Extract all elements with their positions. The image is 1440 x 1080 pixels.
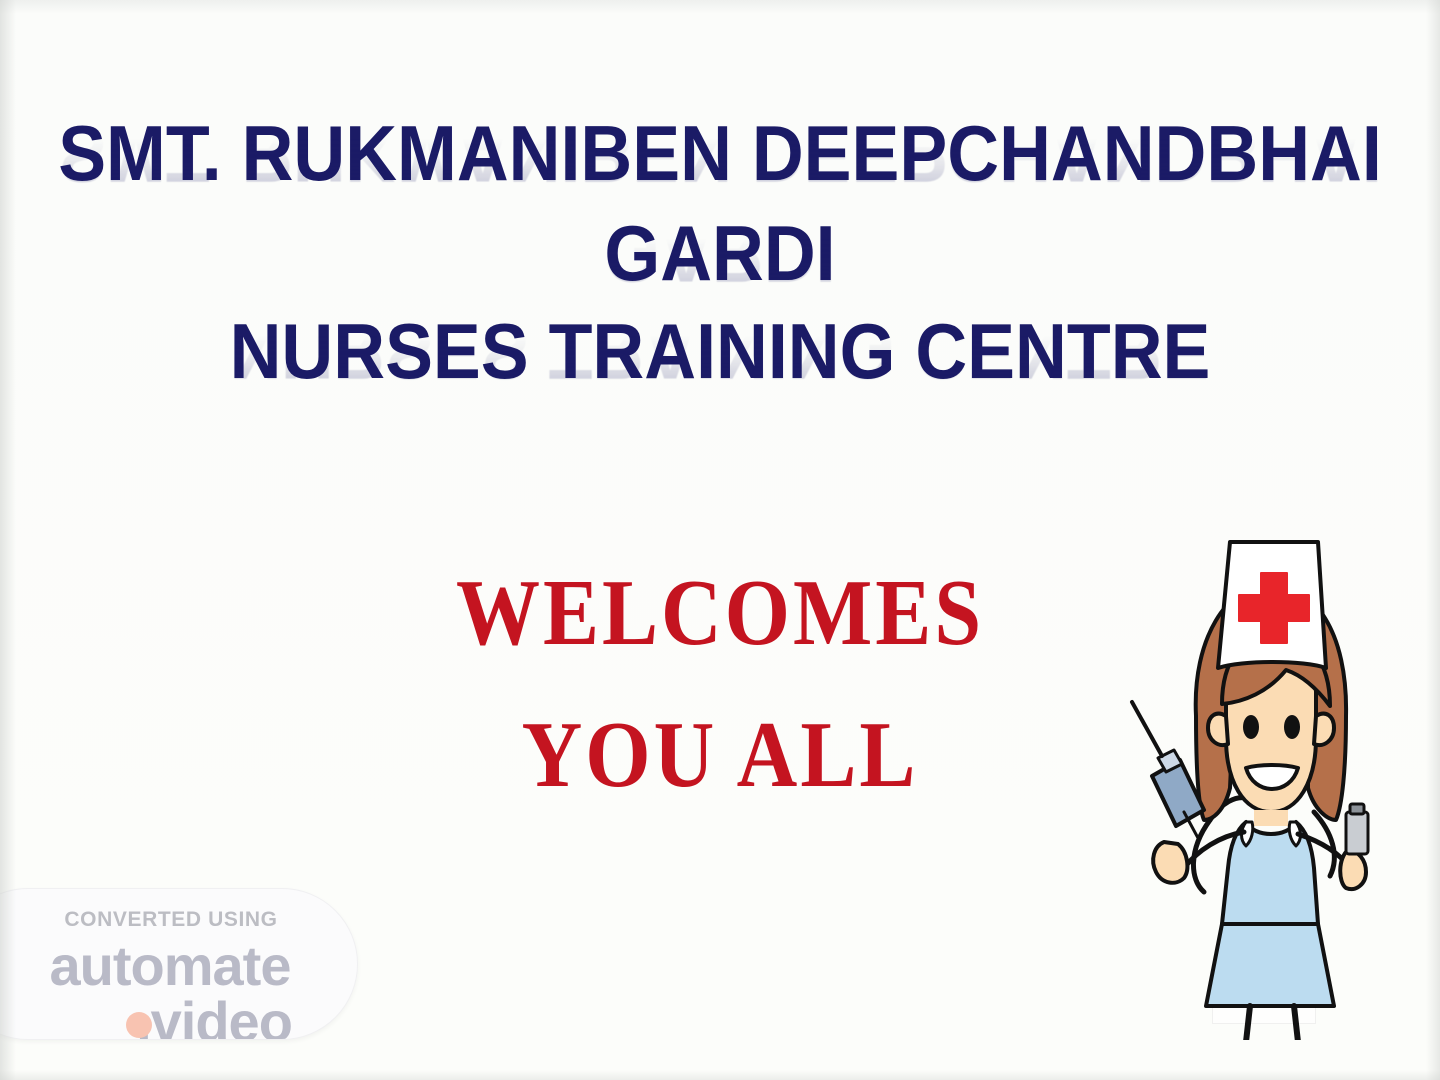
title-line-1: SMT. RUKMANIBEN DEEPCHANDBHAI SMT. RUKMA… <box>58 118 1383 190</box>
title-line-1-text: SMT. RUKMANIBEN DEEPCHANDBHAI <box>58 118 1382 190</box>
title-line-3: NURSES TRAINING CENTRE NURSES TRAINING C… <box>58 316 1383 388</box>
watermark-suffix: .video <box>0 989 357 1040</box>
syringe-icon <box>1132 702 1204 838</box>
automate-video-watermark: CONVERTED USING automate .video <box>0 888 358 1040</box>
welcome-line-1: WELCOMES <box>300 567 1140 661</box>
nurse-illustration <box>1118 520 1418 1040</box>
medicine-vial-icon <box>1346 804 1368 854</box>
slide-canvas: SMT. RUKMANIBEN DEEPCHANDBHAI SMT. RUKMA… <box>0 0 1440 1080</box>
watermark-caption: CONVERTED USING <box>0 908 357 932</box>
title-line-3-text: NURSES TRAINING CENTRE <box>230 316 1211 388</box>
title-line-2-text: GARDI <box>604 218 835 290</box>
institution-title: SMT. RUKMANIBEN DEEPCHANDBHAI SMT. RUKMA… <box>0 118 1440 387</box>
watermark-dot-icon <box>126 1012 152 1038</box>
welcome-line-2: YOU ALL <box>300 709 1140 803</box>
title-line-2: GARDI GARDI <box>58 218 1383 290</box>
welcome-message: WELCOMES YOU ALL <box>300 572 1140 798</box>
